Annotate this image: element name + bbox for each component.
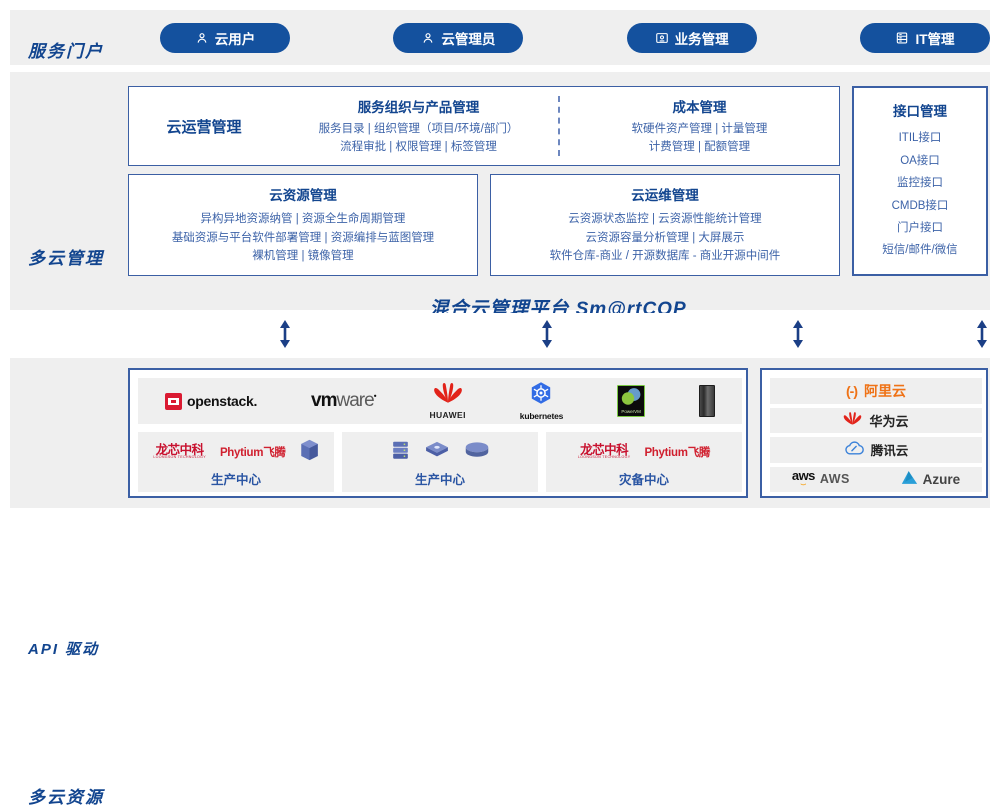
powervm-logo: PowerVM (617, 385, 645, 417)
loongson-sublabel: LOONGSON TECHNOLOGY (578, 456, 631, 460)
phytium-logo: Phytium飞腾 (220, 444, 286, 460)
portal-pill-label: IT管理 (915, 28, 954, 48)
public-cloud-list: (-) 阿里云 华为云 (770, 378, 982, 492)
api-arrow-group (128, 313, 988, 355)
aws-icon: aws ⌣ (792, 469, 815, 489)
vendor-label: kubernetes (520, 411, 563, 421)
cloud-resource-management-box: 云资源管理 异构异地资源纳管 | 资源全生命周期管理 基础资源与平台软件部署管理… (128, 174, 478, 276)
aliyun-icon: (-) (846, 383, 857, 399)
datacenter-logos (391, 436, 490, 468)
box-line: 云资源状态监控 | 云资源性能统计管理 (568, 210, 761, 228)
interface-item: 短信/邮件/微信 (882, 239, 957, 261)
resource-boxes: openstack. vmware• (128, 368, 988, 498)
interface-item: 门户接口 (897, 217, 943, 239)
cloud-operations-title: 云运营管理 (129, 87, 279, 165)
box-heading: 接口管理 (893, 100, 947, 120)
public-cloud-label: Azure (923, 472, 961, 487)
interface-management-box: 接口管理 ITIL接口 OA接口 监控接口 CMDB接口 门户接口 短信/邮件/… (852, 86, 988, 276)
management-boxes: 云运营管理 服务组织与产品管理 服务目录 | 组织管理（项目/环境/部门） 流程… (128, 86, 988, 276)
kubernetes-logo: kubernetes (520, 381, 563, 421)
datacenter-tile: 龙芯中科 LOONGSON TECHNOLOGY Phytium飞腾 灾备中心 (546, 432, 742, 492)
azure-logo: Azure (901, 470, 961, 488)
box-line: 异构异地资源纳管 | 资源全生命周期管理 (201, 210, 406, 228)
multi-cloud-resources-band: 多云资源 openstack. vmware• (10, 358, 990, 508)
box-line: 软件仓库-商业 / 开源数据库 - 商业开源中间件 (550, 247, 781, 265)
box-heading: 云资源管理 (269, 184, 337, 204)
public-cloud-item-huawei[interactable]: 华为云 (770, 408, 982, 434)
huawei-flower-icon (433, 382, 463, 409)
vmware-logo: vmware• (311, 390, 375, 412)
portal-pill-business-mgmt[interactable]: 业务管理 (627, 23, 757, 53)
kubernetes-helm-icon (529, 381, 553, 410)
datacenter-tile: 龙芯中科 LOONGSON TECHNOLOGY Phytium飞腾 (138, 432, 334, 492)
public-cloud-item-aws-azure[interactable]: aws ⌣ AWS Azu (770, 467, 982, 493)
loongson-sublabel: LOONGSON TECHNOLOGY (153, 456, 206, 460)
private-resources-box: openstack. vmware• (128, 368, 748, 498)
interface-item: OA接口 (900, 150, 940, 172)
server-icon (895, 31, 909, 45)
switch-icon (424, 440, 450, 465)
datacenter-logos: 龙芯中科 LOONGSON TECHNOLOGY Phytium飞腾 (153, 436, 318, 468)
portal-pill-cloud-admin[interactable]: 云管理员 (393, 23, 523, 53)
service-portal-band: 服务门户 云用户 云管理员 (10, 10, 990, 65)
column-heading: 服务组织与产品管理 (358, 96, 480, 116)
column-line: 计费管理 | 配额管理 (649, 139, 750, 157)
aws-logo: aws ⌣ AWS (792, 469, 850, 489)
phytium-logo: Phytium飞腾 (644, 444, 710, 460)
datacenter-logos: 龙芯中科 LOONGSON TECHNOLOGY Phytium飞腾 (578, 436, 710, 468)
interface-item: ITIL接口 (899, 127, 942, 149)
row-label-multi-cloud-resources: 多云资源 (28, 783, 104, 808)
vendor-logo-row: openstack. vmware• (138, 378, 742, 424)
datacenter-tile: 生产中心 (342, 432, 538, 492)
azure-icon (901, 470, 918, 488)
architecture-diagram: 服务门户 云用户 云管理员 (0, 0, 1000, 518)
row-label-service-portal: 服务门户 (28, 37, 104, 62)
storage-disk-icon (464, 441, 490, 464)
service-org-product-column: 服务组织与产品管理 服务目录 | 组织管理（项目/环境/部门） 流程审批 | 权… (279, 87, 558, 165)
double-arrow-icon (278, 319, 292, 349)
column-heading: 成本管理 (673, 96, 727, 116)
vendor-label: openstack. (187, 393, 257, 409)
interface-item: 监控接口 (897, 172, 943, 194)
box-line: 云资源容量分析管理 | 大屏展示 (586, 229, 745, 247)
huawei-logo: HUAWEI (429, 382, 465, 420)
column-line: 流程审批 | 权限管理 | 标签管理 (340, 139, 497, 157)
box-heading: 云运维管理 (631, 184, 699, 204)
user-icon (421, 31, 435, 45)
vendor-label: vmware• (311, 390, 375, 412)
public-cloud-item-tencent[interactable]: 腾讯云 (770, 437, 982, 463)
row-label-multi-cloud-management: 多云管理 (28, 244, 104, 269)
cloud-ops-maintenance-box: 云运维管理 云资源状态监控 | 云资源性能统计管理 云资源容量分析管理 | 大屏… (490, 174, 840, 276)
box-line: 裸机管理 | 镜像管理 (252, 247, 353, 265)
briefcase-icon (655, 31, 669, 45)
tencent-cloud-icon (844, 440, 864, 459)
cloud-resource-management-content: 云资源管理 异构异地资源纳管 | 资源全生命周期管理 基础资源与平台软件部署管理… (129, 175, 477, 275)
portal-pill-group: 云用户 云管理员 业务管理 (160, 20, 990, 55)
portal-pill-label: 云管理员 (441, 28, 495, 48)
public-cloud-item-aliyun[interactable]: (-) 阿里云 (770, 378, 982, 404)
double-arrow-icon (540, 319, 554, 349)
loongson-logo: 龙芯中科 LOONGSON TECHNOLOGY (578, 444, 631, 460)
datacenter-name: 灾备中心 (619, 469, 669, 488)
public-cloud-label: 腾讯云 (871, 440, 909, 459)
loongson-logo: 龙芯中科 LOONGSON TECHNOLOGY (153, 444, 206, 460)
multi-cloud-management-band: 多云管理 云运营管理 服务组织与产品管理 服务目录 | 组织管理（项目/环境/部… (10, 72, 990, 310)
datacenter-row: 龙芯中科 LOONGSON TECHNOLOGY Phytium飞腾 (138, 432, 742, 492)
huawei-flower-icon (843, 411, 862, 429)
vendor-label: HUAWEI (429, 410, 465, 420)
powervm-label: PowerVM (618, 409, 644, 414)
interface-item: CMDB接口 (892, 195, 949, 217)
public-cloud-label: AWS (820, 472, 850, 486)
box-line: 基础资源与平台软件部署管理 | 资源编排与蓝图管理 (172, 229, 434, 247)
datacenter-name: 生产中心 (211, 469, 261, 488)
portal-pill-it-mgmt[interactable]: IT管理 (860, 23, 990, 53)
row-label-api-driven: API 驱动 (28, 638, 99, 659)
interface-management-content: 接口管理 ITIL接口 OA接口 监控接口 CMDB接口 门户接口 短信/邮件/… (854, 88, 986, 274)
datacenter-name: 生产中心 (415, 469, 465, 488)
public-cloud-label: 阿里云 (864, 381, 906, 401)
api-driven-band: API 驱动 (10, 313, 990, 355)
cloud-ops-maintenance-content: 云运维管理 云资源状态监控 | 云资源性能统计管理 云资源容量分析管理 | 大屏… (491, 175, 839, 275)
public-cloud-label: 华为云 (869, 411, 908, 430)
portal-pill-label: 业务管理 (675, 28, 729, 48)
cloud-operations-box: 云运营管理 服务组织与产品管理 服务目录 | 组织管理（项目/环境/部门） 流程… (128, 86, 840, 166)
server-stack-icon (300, 439, 319, 466)
cost-management-column: 成本管理 软硬件资产管理 | 计量管理 计费管理 | 配额管理 (560, 87, 839, 165)
double-arrow-icon (791, 319, 805, 349)
portal-pill-cloud-user[interactable]: 云用户 (160, 23, 290, 53)
server-stack-icon (391, 439, 410, 466)
portal-pill-label: 云用户 (215, 28, 256, 48)
user-icon (195, 31, 209, 45)
column-line: 软硬件资产管理 | 计量管理 (632, 121, 768, 139)
public-cloud-box: (-) 阿里云 华为云 (760, 368, 988, 498)
openstack-icon (165, 393, 182, 410)
double-arrow-icon (975, 319, 989, 349)
column-line: 服务目录 | 组织管理（项目/环境/部门） (319, 121, 519, 139)
server-rack-icon (699, 385, 715, 417)
openstack-logo: openstack. (165, 393, 257, 410)
